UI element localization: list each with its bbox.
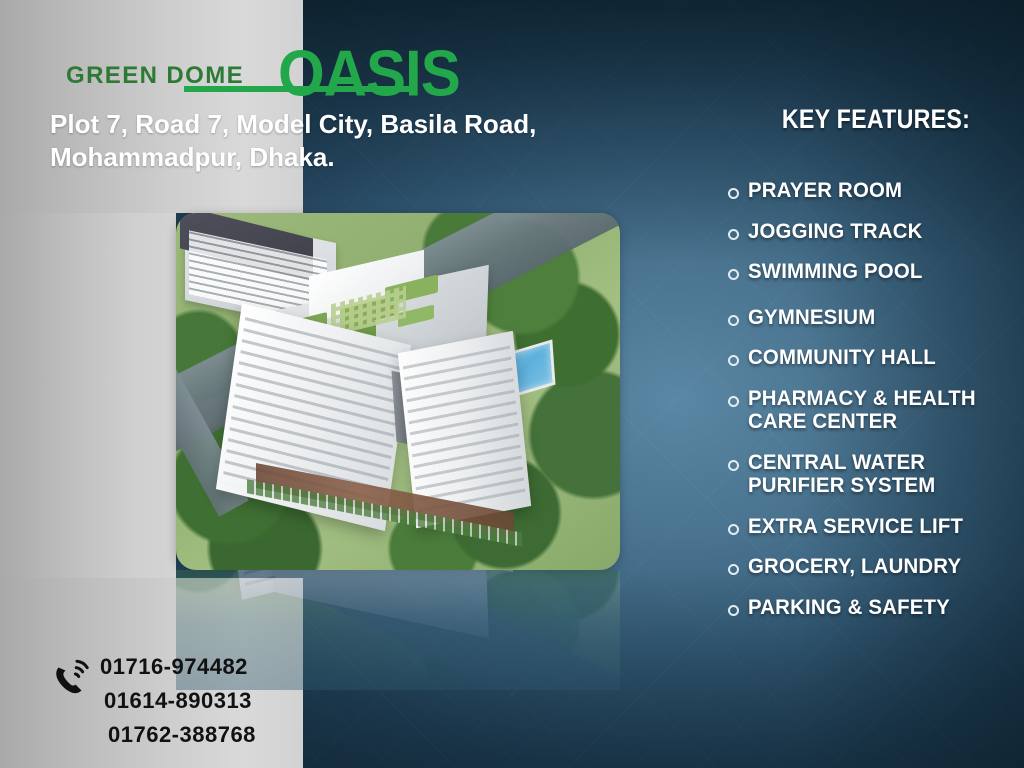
feature-item: COMMUNITY HALL — [728, 346, 1024, 370]
phone-ringing-icon — [52, 658, 96, 698]
bullet-circle-icon — [728, 269, 739, 280]
bullet-circle-icon — [728, 460, 739, 471]
feature-label: PHARMACY & HEALTH CARE CENTER — [748, 387, 1016, 434]
render-composition — [176, 213, 620, 570]
feature-item: EXTRA SERVICE LIFT — [728, 515, 1024, 539]
bullet-circle-icon — [728, 524, 739, 535]
feature-label: JOGGING TRACK — [748, 220, 923, 244]
feature-label: GYMNESIUM — [748, 306, 875, 330]
key-features-section: KEY FEATURES: PRAYER ROOM JOGGING TRACK … — [728, 104, 1024, 636]
phone-number[interactable]: 01716-974482 — [100, 650, 256, 684]
feature-label: PARKING & SAFETY — [748, 596, 950, 620]
feature-label: GROCERY, LAUNDRY — [748, 555, 961, 579]
feature-label: EXTRA SERVICE LIFT — [748, 515, 963, 539]
bullet-circle-icon — [728, 188, 739, 199]
phone-number[interactable]: 01762-388768 — [100, 718, 256, 752]
reflection-podium — [272, 570, 489, 638]
bullet-circle-icon — [728, 229, 739, 240]
project-render-image — [176, 213, 620, 570]
phone-number-list: 01716-974482 01614-890313 01762-388768 — [100, 650, 256, 752]
left-gray-panel-top — [0, 0, 303, 213]
feature-item: SWIMMING POOL — [728, 260, 1024, 284]
feature-item: PRAYER ROOM — [728, 179, 1024, 203]
feature-item: JOGGING TRACK — [728, 220, 1024, 244]
poster-canvas: GREEN DOME OASIS Plot 7, Road 7, Model C… — [0, 0, 1024, 768]
phone-number[interactable]: 01614-890313 — [100, 684, 256, 718]
feature-item: PARKING & SAFETY — [728, 596, 1024, 620]
feature-label: COMMUNITY HALL — [748, 346, 936, 370]
feature-item: GROCERY, LAUNDRY — [728, 555, 1024, 579]
feature-label: PRAYER ROOM — [748, 179, 902, 203]
brand-name: OASIS — [278, 36, 460, 111]
feature-item: PHARMACY & HEALTH CARE CENTER — [728, 387, 1024, 434]
feature-item: GYMNESIUM — [728, 306, 1024, 330]
feature-item: CENTRAL WATER PURIFIER SYSTEM — [728, 451, 1024, 498]
bullet-circle-icon — [728, 396, 739, 407]
left-gray-panel-middle — [0, 213, 176, 578]
project-address: Plot 7, Road 7, Model City, Basila Road,… — [50, 108, 550, 175]
key-features-title: KEY FEATURES: — [749, 104, 1004, 135]
bullet-circle-icon — [728, 564, 739, 575]
bullet-circle-icon — [728, 315, 739, 326]
brand-underline — [184, 86, 412, 92]
reflection-tower-b — [398, 570, 532, 573]
feature-label: CENTRAL WATER PURIFIER SYSTEM — [748, 451, 1016, 498]
bullet-circle-icon — [728, 355, 739, 366]
feature-label: SWIMMING POOL — [748, 260, 923, 284]
bullet-circle-icon — [728, 605, 739, 616]
render-tower-b-balconies — [403, 345, 526, 519]
